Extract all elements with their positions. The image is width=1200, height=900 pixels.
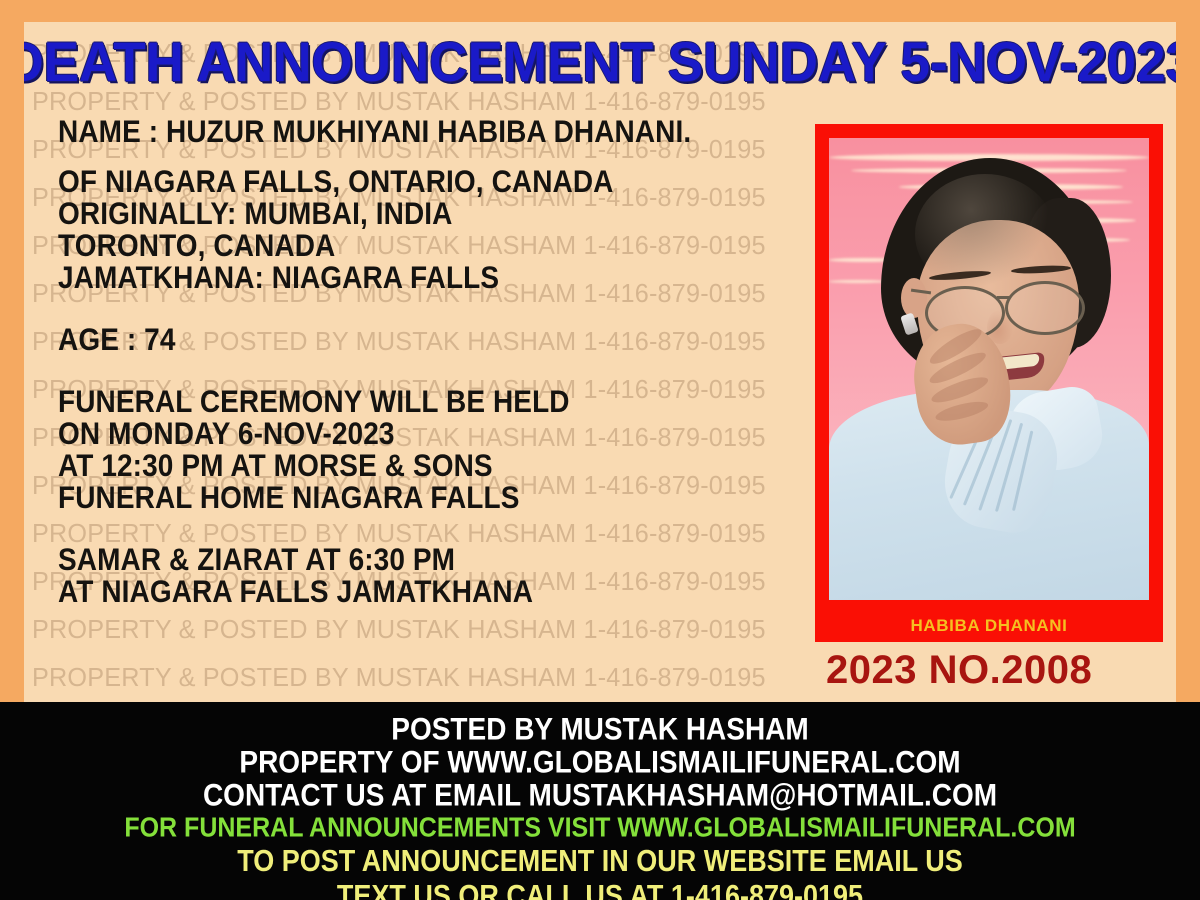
announcement-body: NAME : HUZUR MUKHIYANI HABIBA DHANANI. O… xyxy=(58,114,818,606)
name-line: NAME : HUZUR MUKHIYANI HABIBA DHANANI. xyxy=(58,114,818,150)
footer-banner: POSTED BY MUSTAK HASHAM PROPERTY OF WWW.… xyxy=(0,702,1200,900)
watermark-line: PROPERTY & POSTED BY MUSTAK HASHAM 1-416… xyxy=(32,662,766,693)
location-line-4: JAMATKHANA: NIAGARA FALLS xyxy=(58,260,818,296)
location-line-3: TORONTO, CANADA xyxy=(58,228,818,264)
funeral-line-2: ON MONDAY 6-NOV-2023 xyxy=(58,416,818,452)
footer-contact: CONTACT US AT EMAIL MUSTAKHASHAM@HOTMAIL… xyxy=(0,776,1200,814)
ear-shape xyxy=(901,278,927,318)
age-line: AGE : 74 xyxy=(58,322,818,358)
funeral-line-4: FUNERAL HOME NIAGARA FALLS xyxy=(58,480,818,516)
samar-line-1: SAMAR & ZIARAT AT 6:30 PM xyxy=(58,542,818,578)
funeral-line-1: FUNERAL CEREMONY WILL BE HELD xyxy=(58,384,818,420)
footer-post-email: TO POST ANNOUNCEMENT IN OUR WEBSITE EMAI… xyxy=(0,842,1200,881)
page-title: DEATH ANNOUNCEMENT SUNDAY 5-NOV-2023 xyxy=(24,34,1176,90)
location-line-2: ORIGINALLY: MUMBAI, INDIA xyxy=(58,196,818,232)
page-title-text: DEATH ANNOUNCEMENT SUNDAY 5-NOV-2023 xyxy=(24,31,1176,94)
location-line-1: OF NIAGARA FALLS, ONTARIO, CANADA xyxy=(58,164,818,200)
footer-announcements: FOR FUNERAL ANNOUNCEMENTS VISIT WWW.GLOB… xyxy=(0,809,1200,845)
footer-posted-by: POSTED BY MUSTAK HASHAM xyxy=(0,710,1200,748)
samar-line-2: AT NIAGARA FALLS JAMATKHANA xyxy=(58,574,818,610)
footer-phone: TEXT US OR CALL US AT 1-416-879-0195 xyxy=(0,877,1200,900)
spacer xyxy=(58,512,818,542)
eyeglass-lens-right xyxy=(1005,281,1085,335)
spacer xyxy=(58,292,818,322)
funeral-line-3: AT 12:30 PM AT MORSE & SONS xyxy=(58,448,818,484)
serial-number: 2023 NO.2008 xyxy=(826,648,1092,692)
footer-property: PROPERTY OF WWW.GLOBALISMAILIFUNERAL.COM xyxy=(0,743,1200,781)
death-announcement-poster: PROPERTY & POSTED BY MUSTAK HASHAM 1-416… xyxy=(0,0,1200,900)
photo-caption: HABIBA DHANANI xyxy=(815,616,1163,636)
deceased-photo xyxy=(829,138,1149,600)
eyeglass-bridge xyxy=(997,296,1009,299)
spacer xyxy=(58,354,818,384)
watermark-line: PROPERTY & POSTED BY MUSTAK HASHAM 1-416… xyxy=(32,614,766,645)
deceased-photo-frame: HABIBA DHANANI xyxy=(815,124,1163,642)
